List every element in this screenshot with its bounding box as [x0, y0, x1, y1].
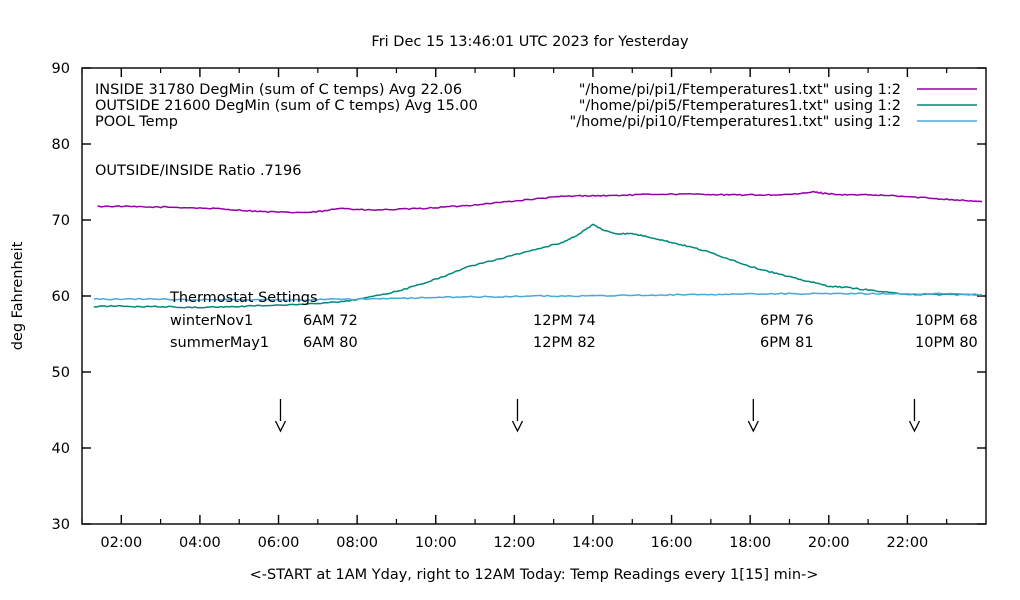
y-tick-label: 90: [52, 61, 70, 77]
y-axis-label: deg Fahrenheit: [10, 241, 26, 350]
x-axis-label: <-START at 1AM Yday, right to 12AM Today…: [250, 567, 819, 583]
legend-label-1: OUTSIDE 21600 DegMin (sum of C temps) Av…: [95, 98, 478, 114]
thermostat-cell-1-3: 10PM 80: [915, 335, 978, 351]
thermostat-cell-0-1: 12PM 74: [533, 313, 596, 329]
x-tick-label: 04:00: [179, 535, 221, 551]
y-tick-label: 60: [52, 289, 70, 305]
y-tick-label: 70: [52, 213, 70, 229]
thermostat-cell-1-0: 6AM 80: [303, 335, 358, 351]
chart-page: Fri Dec 15 13:46:01 UTC 2023 for Yesterd…: [0, 0, 1020, 600]
thermostat-settings-title: Thermostat Settings: [169, 290, 318, 306]
legend-source-0: "/home/pi/pi1/Ftemperatures1.txt" using …: [579, 82, 901, 98]
y-tick-label: 50: [52, 365, 70, 381]
legend-source-1: "/home/pi/pi5/Ftemperatures1.txt" using …: [579, 98, 901, 114]
y-tick-label: 30: [52, 517, 70, 533]
x-tick-label: 10:00: [415, 535, 457, 551]
x-tick-label: 08:00: [336, 535, 378, 551]
x-tick-label: 18:00: [729, 535, 771, 551]
x-tick-label: 02:00: [100, 535, 142, 551]
thermostat-cell-1-1: 12PM 82: [533, 335, 596, 351]
y-tick-label: 40: [52, 441, 70, 457]
x-tick-label: 16:00: [651, 535, 693, 551]
thermostat-season-0: winterNov1: [170, 313, 253, 329]
legend-label-2: POOL Temp: [95, 114, 178, 130]
x-tick-label: 22:00: [886, 535, 928, 551]
thermostat-cell-0-2: 6PM 76: [760, 313, 814, 329]
y-tick-label: 80: [52, 137, 70, 153]
x-tick-label: 12:00: [493, 535, 535, 551]
legend-label-0: INSIDE 31780 DegMin (sum of C temps) Avg…: [95, 82, 462, 98]
x-tick-label: 14:00: [572, 535, 614, 551]
thermostat-cell-0-0: 6AM 72: [303, 313, 358, 329]
x-tick-label: 20:00: [808, 535, 850, 551]
thermostat-cell-0-3: 10PM 68: [915, 313, 978, 329]
legend-source-2: "/home/pi/pi10/Ftemperatures1.txt" using…: [570, 114, 901, 130]
x-tick-label: 06:00: [258, 535, 300, 551]
chart-title: Fri Dec 15 13:46:01 UTC 2023 for Yesterd…: [371, 34, 689, 50]
temperature-line-chart: Fri Dec 15 13:46:01 UTC 2023 for Yesterd…: [0, 0, 1020, 600]
ratio-annotation: OUTSIDE/INSIDE Ratio .7196: [95, 163, 301, 179]
thermostat-season-1: summerMay1: [170, 335, 269, 351]
thermostat-cell-1-2: 6PM 81: [760, 335, 814, 351]
